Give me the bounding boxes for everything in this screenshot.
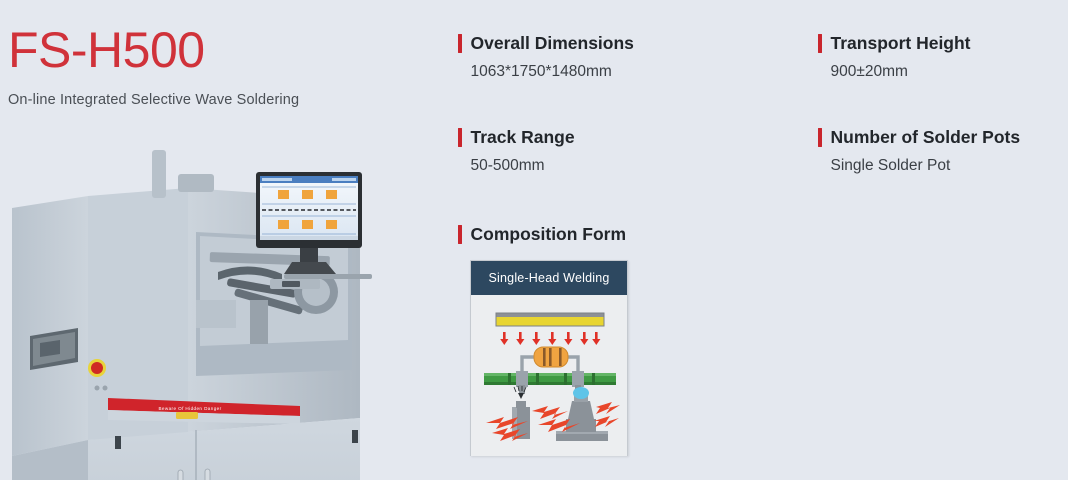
welding-diagram [478, 301, 620, 449]
page-title: FS-H500 [8, 22, 438, 78]
heater-bar-icon [496, 313, 604, 326]
spec-header: Number of Solder Pots [818, 127, 1020, 148]
spec-value: Single Solder Pot [831, 157, 1021, 175]
resistor-component-icon [534, 347, 568, 367]
spec-track-range: Track Range 50-500mm [458, 127, 575, 175]
spec-label: Track Range [471, 127, 575, 148]
spec-composition-form: Composition Form [458, 224, 626, 245]
machine-photo: Beware Of Hidden Danger [0, 140, 400, 480]
spec-label: Overall Dimensions [471, 33, 634, 54]
spec-label: Composition Form [471, 224, 627, 245]
spec-value: 1063*1750*1480mm [471, 63, 634, 81]
title-block: FS-H500 On-line Integrated Selective Wav… [8, 22, 438, 108]
accent-bar-icon [458, 34, 462, 53]
accent-bar-icon [458, 225, 462, 244]
composition-card-header: Single-Head Welding [471, 261, 627, 295]
spec-label: Transport Height [831, 33, 971, 54]
spec-number-of-solder-pots: Number of Solder Pots Single Solder Pot [818, 127, 1020, 175]
accent-bar-icon [458, 128, 462, 147]
svg-text:Beware Of Hidden Danger: Beware Of Hidden Danger [158, 406, 221, 411]
pcb-board-icon [484, 371, 616, 387]
spec-header: Overall Dimensions [458, 33, 634, 54]
spec-header: Track Range [458, 127, 575, 148]
product-spec-page: FS-H500 On-line Integrated Selective Wav… [0, 0, 1068, 480]
spec-overall-dimensions: Overall Dimensions 1063*1750*1480mm [458, 33, 634, 81]
heat-arrows-icon [500, 332, 600, 345]
spec-value: 900±20mm [831, 63, 971, 81]
spec-header: Transport Height [818, 33, 971, 54]
solder-pins [519, 385, 581, 394]
composition-card-body [471, 295, 627, 456]
spec-header: Composition Form [458, 224, 626, 245]
accent-bar-icon [818, 128, 822, 147]
accent-bar-icon [818, 34, 822, 53]
composition-form-card: Single-Head Welding [470, 260, 628, 456]
spec-value: 50-500mm [471, 157, 575, 175]
spec-label: Number of Solder Pots [831, 127, 1021, 148]
page-subtitle: On-line Integrated Selective Wave Solder… [8, 92, 438, 108]
solder-pot-nozzle-icon [556, 387, 608, 441]
spec-transport-height: Transport Height 900±20mm [818, 33, 971, 81]
